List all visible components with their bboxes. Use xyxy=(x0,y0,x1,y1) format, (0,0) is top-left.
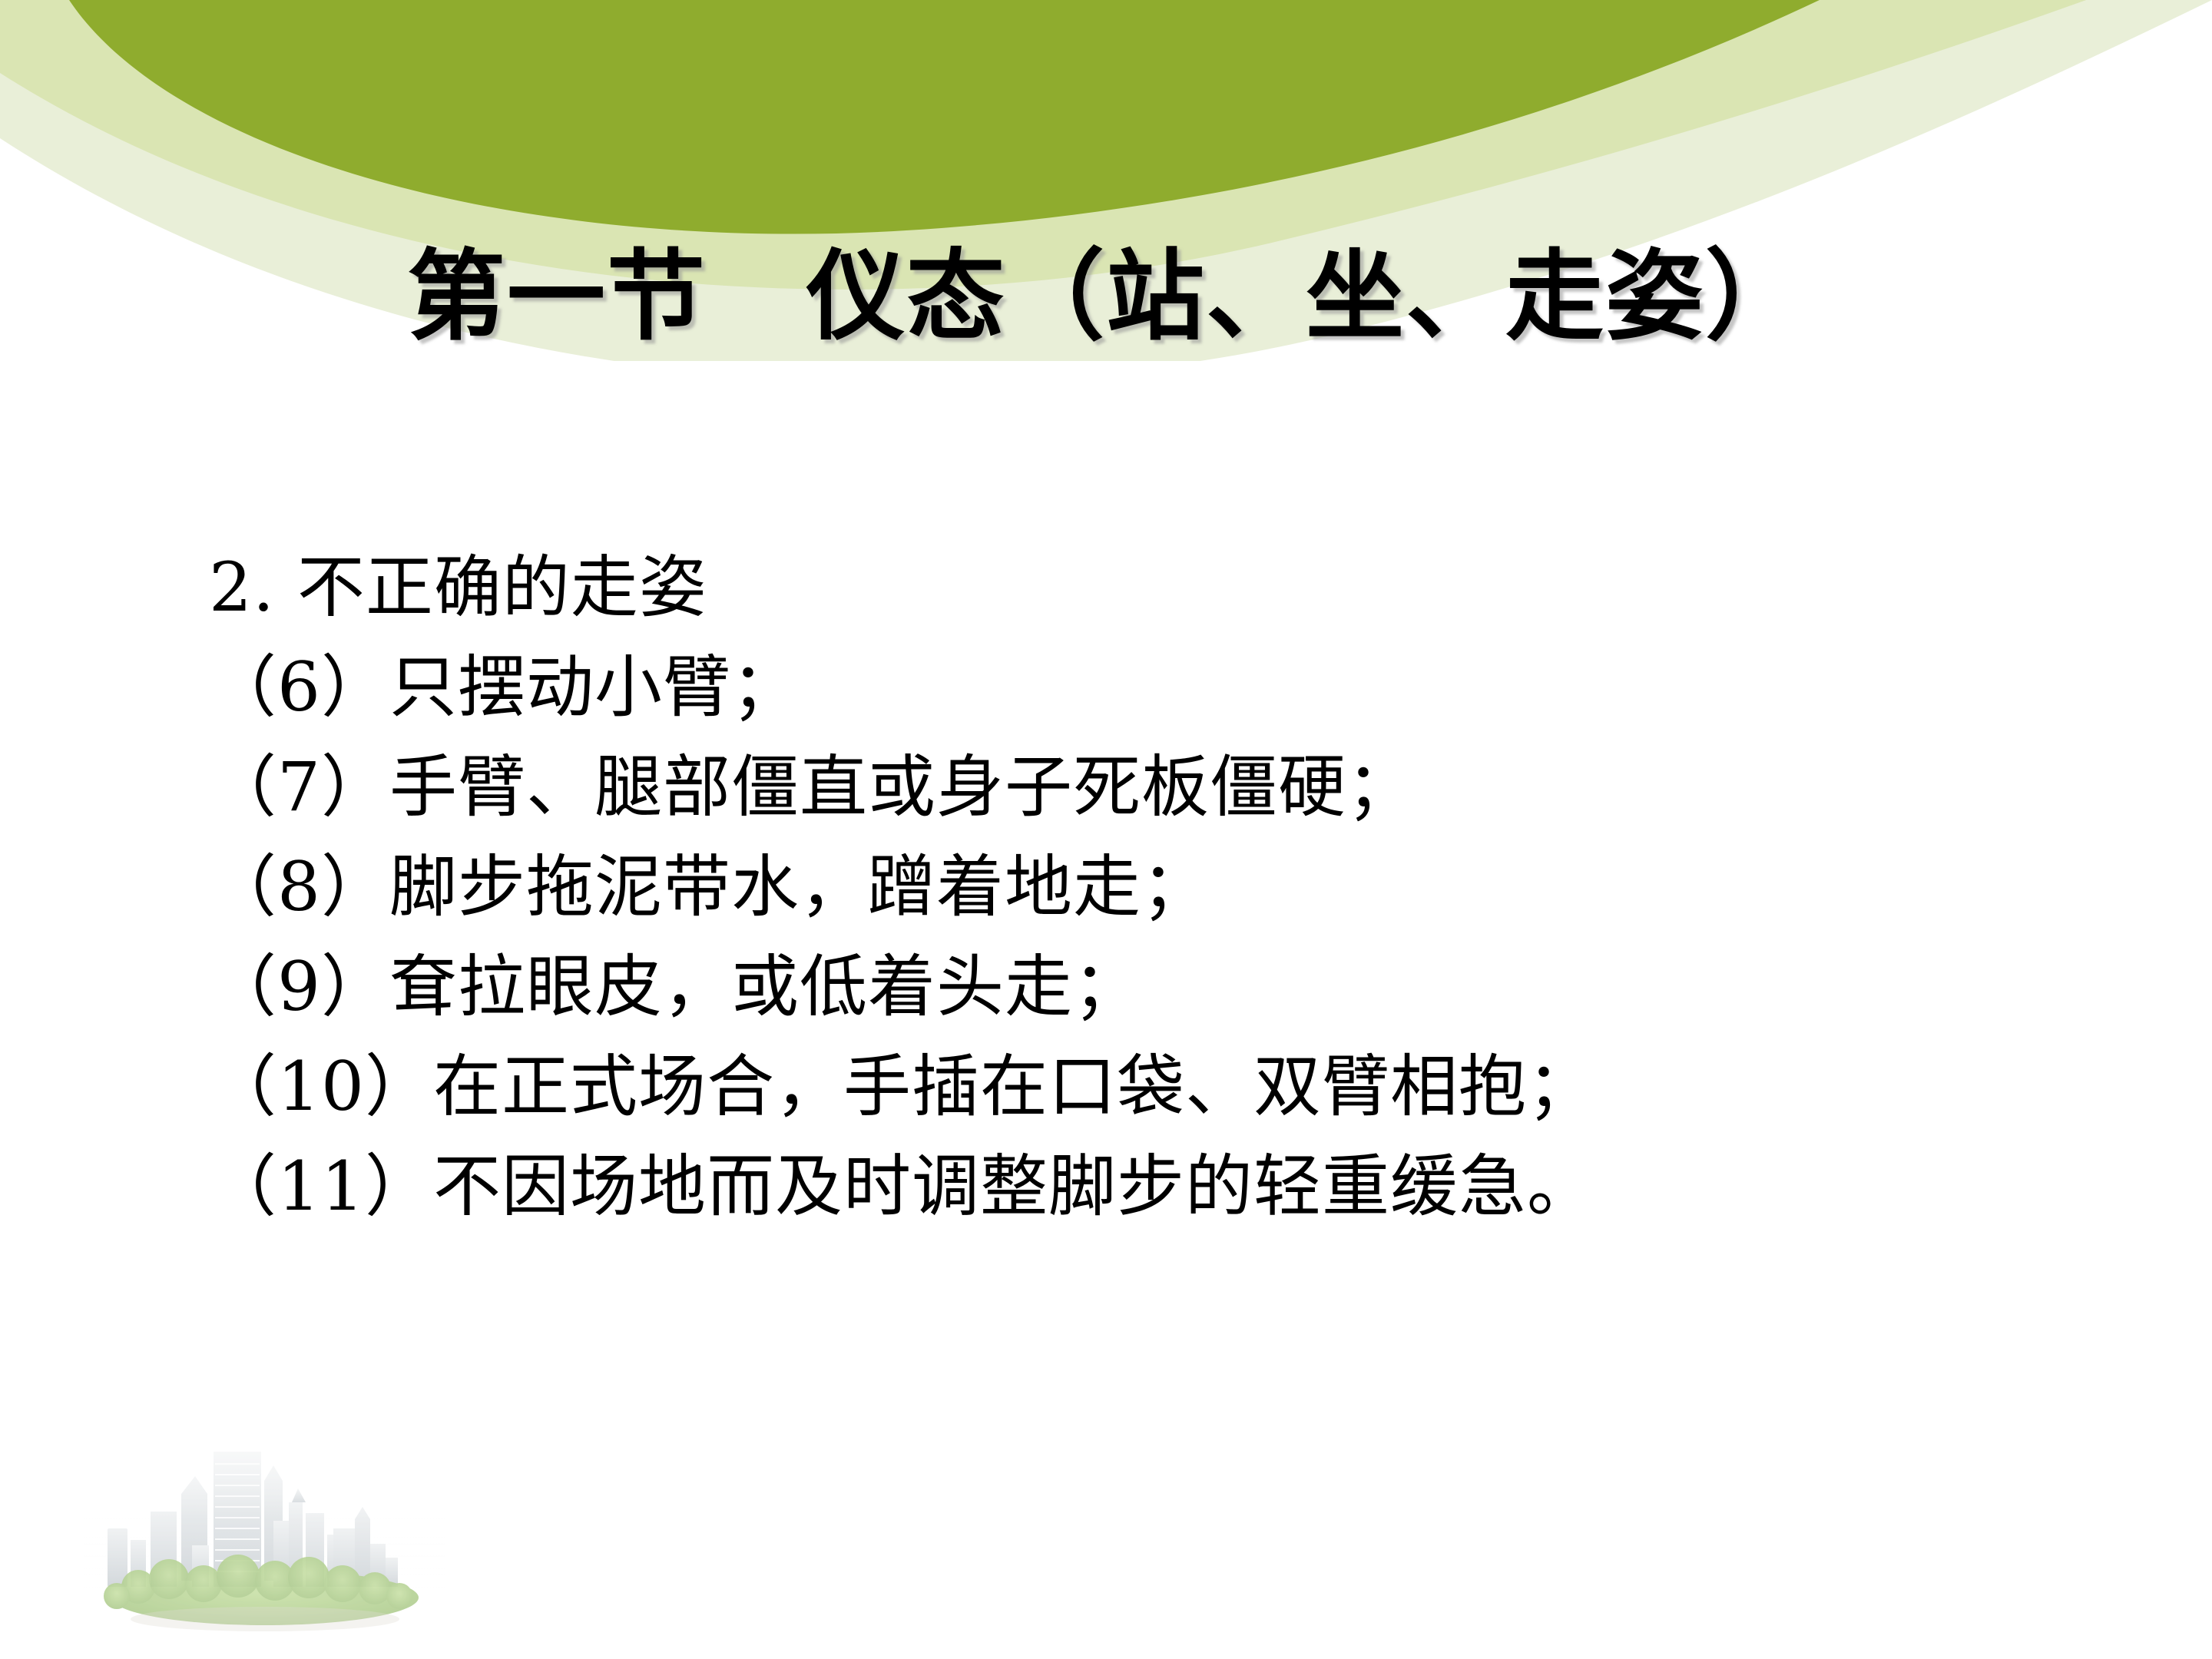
city-skyline-watermark xyxy=(84,1421,445,1651)
content-list: 2. 不正确的走姿 （6）只摆动小臂； （7）手臂、腿部僵直或身子死板僵硬； （… xyxy=(209,538,2014,1237)
list-item: （8）脚步拖泥带水，蹭着地走； xyxy=(209,837,2014,937)
skyline-buildings xyxy=(108,1452,398,1587)
swoosh-band-dark xyxy=(69,0,2212,234)
page-title: 第一节 仪态（站、坐、走姿） xyxy=(407,234,1805,360)
list-item: 2. 不正确的走姿 xyxy=(209,538,2014,637)
list-item: （6）只摆动小臂； xyxy=(209,637,2014,737)
skyline-foliage xyxy=(104,1555,419,1625)
list-item: （10）在正式场合，手插在口袋、双臂相抱； xyxy=(209,1037,2014,1137)
list-item: （7）手臂、腿部僵直或身子死板僵硬； xyxy=(209,737,2014,837)
skyline-ground-shadow xyxy=(131,1607,399,1631)
list-item: （9）耷拉眼皮，或低着头走； xyxy=(209,937,2014,1037)
skyline-window-lines xyxy=(215,1464,260,1571)
list-item: （11）不因场地而及时调整脚步的轻重缓急。 xyxy=(209,1137,2014,1237)
slide-canvas: 第一节 仪态（站、坐、走姿） 2. 不正确的走姿 （6）只摆动小臂； （7）手臂… xyxy=(0,0,2212,1659)
title-area: 第一节 仪态（站、坐、走姿） xyxy=(0,234,2212,360)
